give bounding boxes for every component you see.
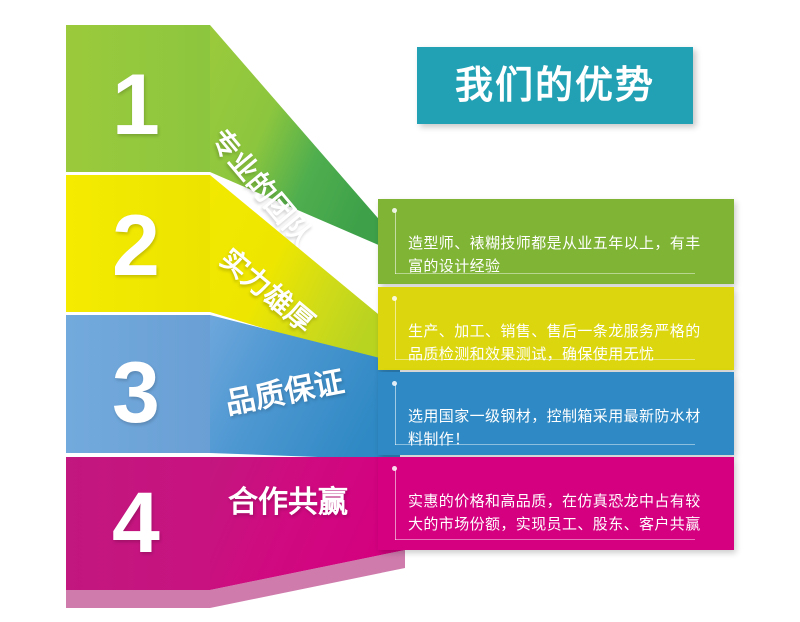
row-2-number: 2 xyxy=(112,203,160,289)
infographic-canvas: 我们的优势 xyxy=(0,0,800,622)
row-3-number: 3 xyxy=(112,350,160,436)
description-text-3: 选用国家一级钢材，控制箱采用最新防水材料制作！ xyxy=(408,405,712,452)
description-panel-4: 实惠的价格和高品质，在仿真恐龙中占有较大的市场份额，实现员工、股东、客户共赢 xyxy=(378,457,734,550)
bracket-line-1 xyxy=(395,211,396,274)
description-text-2: 生产、加工、销售、售后一条龙服务严格的品质检测和效果测试，确保使用无忧 xyxy=(408,320,712,367)
description-panel-2: 生产、加工、销售、售后一条龙服务严格的品质检测和效果测试，确保使用无忧 xyxy=(378,287,734,370)
bracket-line-3 xyxy=(395,384,396,445)
bracket-line-2 xyxy=(395,299,396,360)
bracket-line-4 xyxy=(395,469,396,540)
row-4-label: 合作共赢 xyxy=(228,488,348,518)
page-title: 我们的优势 xyxy=(455,67,655,105)
row-1-number: 1 xyxy=(112,62,160,148)
row-4-number: 4 xyxy=(112,480,160,566)
bracket-foot-4 xyxy=(395,539,695,540)
title-banner: 我们的优势 xyxy=(417,47,693,124)
description-panel-1: 造型师、裱糊技师都是从业五年以上，有丰富的设计经验 xyxy=(378,199,734,284)
description-text-4: 实惠的价格和高品质，在仿真恐龙中占有较大的市场份额，实现员工、股东、客户共赢 xyxy=(408,490,712,537)
description-panel-3: 选用国家一级钢材，控制箱采用最新防水材料制作！ xyxy=(378,372,734,455)
advantage-row-4: 4 合作共赢 xyxy=(60,450,405,610)
description-text-1: 造型师、裱糊技师都是从业五年以上，有丰富的设计经验 xyxy=(408,232,712,279)
